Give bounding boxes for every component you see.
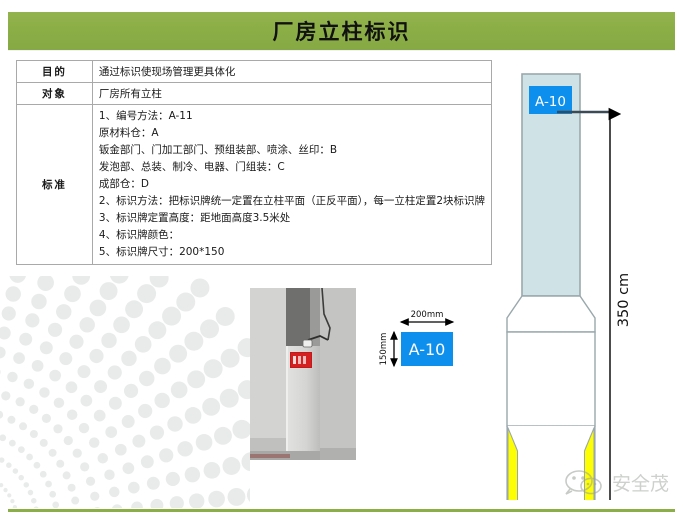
info-table: 目的 通过标识使现场管理更具体化 对象 厂房所有立柱 标准 1、编号方法：A-1… <box>16 60 492 265</box>
standard-line: 3、标识牌定置高度：距地面高度3.5米处 <box>99 210 485 227</box>
standard-line: 1、编号方法：A-11 <box>99 108 485 125</box>
sign-label-text: A-10 <box>409 340 446 359</box>
page-title: 厂房立柱标识 <box>8 12 675 50</box>
halftone-dots-decoration <box>0 276 250 508</box>
height-dimension-label: 350 cm <box>616 273 632 327</box>
table-row: 对象 厂房所有立柱 <box>17 83 492 105</box>
column-taper <box>507 296 595 332</box>
column-sign-text: A-10 <box>535 94 566 110</box>
standard-line: 2、标识方法：把标识牌统一定置在立柱平面（正反平面），每一立柱定置2块标识牌 <box>99 193 485 210</box>
row-value-standard: 1、编号方法：A-11 原材料仓：A 钣金部门、门加工部门、预组装部、喷涂、丝印… <box>92 105 491 265</box>
sign-dimension-diagram: 200mm 150mm A-10 <box>372 306 482 376</box>
sign-height-label: 150mm <box>379 333 389 366</box>
standard-line: 4、标识牌颜色： <box>99 227 485 244</box>
factory-column-photo <box>250 288 356 460</box>
bottom-rule <box>8 509 675 512</box>
slide-root: 厂房立柱标识 目的 通过标识使现场管理更具体化 对象 厂房所有立柱 标准 1、编… <box>0 0 683 519</box>
standard-line: 成部仓：D <box>99 176 485 193</box>
row-value-purpose: 通过标识使现场管理更具体化 <box>92 61 491 83</box>
column-mid-body <box>507 332 595 426</box>
table-row: 标准 1、编号方法：A-11 原材料仓：A 钣金部门、门加工部门、预组装部、喷涂… <box>17 105 492 265</box>
row-value-object: 厂房所有立柱 <box>92 83 491 105</box>
column-elevation-diagram: A-10 <box>495 60 683 500</box>
row-label-standard: 标准 <box>17 105 93 265</box>
table-row: 目的 通过标识使现场管理更具体化 <box>17 61 492 83</box>
title-bar: 厂房立柱标识 <box>8 12 675 50</box>
row-label-object: 对象 <box>17 83 93 105</box>
standard-line: 原材料仓：A <box>99 125 485 142</box>
standard-line: 发泡部、总装、制冷、电器、门组装：C <box>99 159 485 176</box>
standard-line: 5、标识牌尺寸：200*150 <box>99 244 485 261</box>
sign-width-label: 200mm <box>411 310 444 320</box>
standard-line: 钣金部门、门加工部门、预组装部、喷涂、丝印：B <box>99 142 485 159</box>
row-label-purpose: 目的 <box>17 61 93 83</box>
